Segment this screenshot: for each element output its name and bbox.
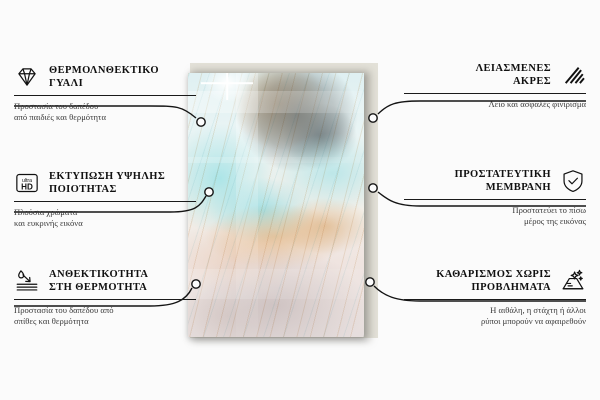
feature-desc-line: και ευκρινής εικόνα xyxy=(14,218,196,229)
feature-desc-line: Η αιθάλη, η στάχτη ή άλλοι xyxy=(404,305,586,316)
glass-artwork xyxy=(188,73,364,337)
feature-title: ΛΕΙΑΣΜΕΝΕΣ ΑΚΡΕΣ xyxy=(476,62,551,88)
infographic-canvas: ΘΕΡΜΟΛΝΘΕΚΤΙΚΟ ΓΥΑΛΙ Προστασία του δαπέδ… xyxy=(0,0,600,400)
feature-title: ΑΝΘΕΚΤΙΚΟΤΗΤΑ ΣΤΗ ΘΕΡΜΟΤΗΤΑ xyxy=(49,268,148,294)
feature-polished-edges: ΛΕΙΑΣΜΕΝΕΣ ΑΚΡΕΣ Λείο και ασφαλές φινίρι… xyxy=(404,62,586,110)
divider xyxy=(14,299,196,300)
feature-title: ΕΚΤΥΠΩΣΗ ΥΨΗΛΗΣ ΠΟΙΟΤΗΤΑΣ xyxy=(49,170,165,196)
feature-title: ΚΑΘΑΡΙΣΜΟΣ ΧΩΡΙΣ ΠΡΟΒΛΗΜΑΤΑ xyxy=(436,268,551,294)
feature-desc-line: Λείο και ασφαλές φινίρισμα xyxy=(404,99,586,110)
feature-desc-line: από παιδιές και θερμότητα xyxy=(14,112,196,123)
glass-reflection-vertical xyxy=(236,73,258,337)
svg-text:HD: HD xyxy=(21,183,33,192)
feature-desc-line: Πλούσια χρώματα xyxy=(14,207,196,218)
glass-glare-sparkle xyxy=(204,73,250,103)
feature-desc-line: Προστατεύει το πίσω xyxy=(404,205,586,216)
flame-deflect-icon xyxy=(14,268,40,294)
feature-header: ΑΝΘΕΚΤΙΚΟΤΗΤΑ ΣΤΗ ΘΕΡΜΟΤΗΤΑ xyxy=(14,268,196,294)
feature-desc-line: ρύποι μπορούν να αφαιρεθούν xyxy=(404,316,586,327)
feature-desc-line: Προστασία του δαπέδου xyxy=(14,101,196,112)
feature-header: ΚΑΘΑΡΙΣΜΟΣ ΧΩΡΙΣ ΠΡΟΒΛΗΜΑΤΑ xyxy=(404,268,586,294)
feature-desc-line: Προστασία του δαπέδου από xyxy=(14,305,196,316)
feature-desc-line: μέρος της εικόνας xyxy=(404,216,586,227)
product-panel xyxy=(182,63,378,348)
divider xyxy=(404,93,586,94)
feature-header: ΘΕΡΜΟΛΝΘΕΚΤΙΚΟ ΓΥΑΛΙ xyxy=(14,64,196,90)
feature-header: ultra HD ΕΚΤΥΠΩΣΗ ΥΨΗΛΗΣ ΠΟΙΟΤΗΤΑΣ xyxy=(14,170,196,196)
divider xyxy=(404,199,586,200)
feature-header: ΠΡΟΣΤΑΤΕΥΤΙΚΗ ΜΕΜΒΡΑΝΗ xyxy=(404,168,586,194)
feature-heat-resistant-glass: ΘΕΡΜΟΛΝΘΕΚΤΙΚΟ ΓΥΑΛΙ Προστασία του δαπέδ… xyxy=(14,64,196,123)
feature-title: ΘΕΡΜΟΛΝΘΕΚΤΙΚΟ ΓΥΑΛΙ xyxy=(49,64,159,90)
diagonal-stripes-icon xyxy=(560,62,586,88)
feature-desc-line: σπίθες και θερμότητα xyxy=(14,316,196,327)
feature-heat-durability: ΑΝΘΕΚΤΙΚΟΤΗΤΑ ΣΤΗ ΘΕΡΜΟΤΗΤΑ Προστασία το… xyxy=(14,268,196,327)
feature-protective-membrane: ΠΡΟΣΤΑΤΕΥΤΙΚΗ ΜΕΜΒΡΑΝΗ Προστατεύει το πί… xyxy=(404,168,586,227)
glass-reflection-band-low xyxy=(188,269,364,299)
divider xyxy=(14,95,196,96)
feature-high-quality-print: ultra HD ΕΚΤΥΠΩΣΗ ΥΨΗΛΗΣ ΠΟΙΟΤΗΤΑΣ Πλούσ… xyxy=(14,170,196,229)
divider xyxy=(14,201,196,202)
diamond-icon xyxy=(14,64,40,90)
sparkle-clean-icon xyxy=(560,268,586,294)
feature-easy-cleaning: ΚΑΘΑΡΙΣΜΟΣ ΧΩΡΙΣ ΠΡΟΒΛΗΜΑΤΑ Η αιθάλη, η … xyxy=(404,268,586,327)
feature-header: ΛΕΙΑΣΜΕΝΕΣ ΑΚΡΕΣ xyxy=(404,62,586,88)
ultra-hd-icon: ultra HD xyxy=(14,170,40,196)
feature-title: ΠΡΟΣΤΑΤΕΥΤΙΚΗ ΜΕΜΒΡΑΝΗ xyxy=(455,168,551,194)
divider xyxy=(404,299,586,300)
glass-reflection-band-mid xyxy=(188,157,364,163)
shield-check-icon xyxy=(560,168,586,194)
